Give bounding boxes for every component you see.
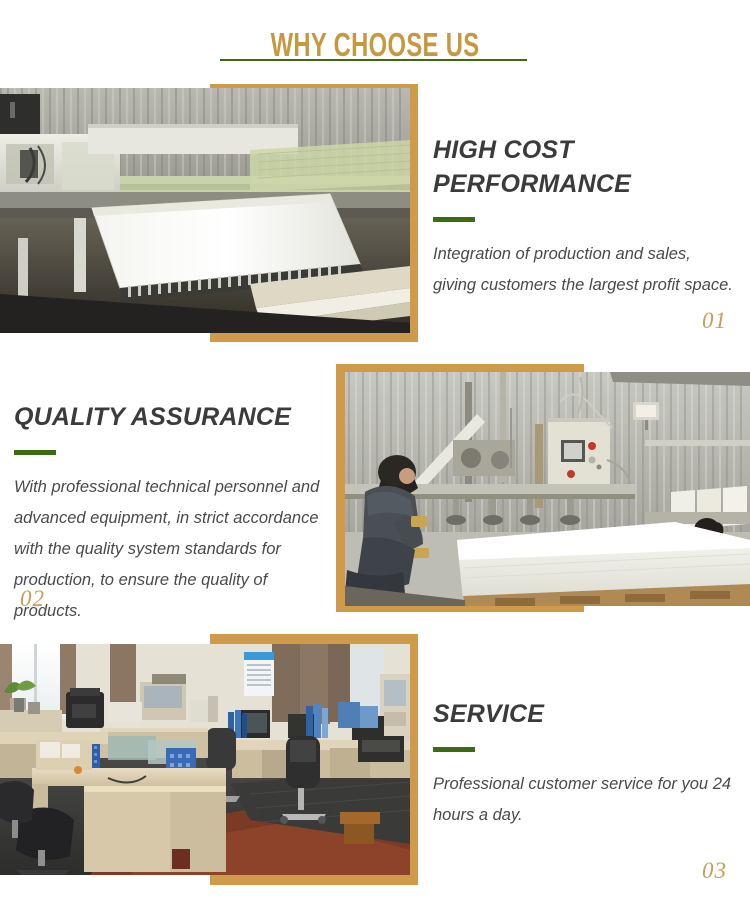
section-1-photo bbox=[0, 88, 410, 333]
section-1-divider bbox=[433, 217, 475, 222]
factory-production-line-image bbox=[0, 88, 410, 333]
section-2-body: With professional technical personnel an… bbox=[14, 472, 326, 627]
page-title: WHY CHOOSE US bbox=[105, 26, 645, 64]
page-header: WHY CHOOSE US bbox=[0, 14, 750, 60]
section-1-text: HIGH COST PERFORMANCE Integration of pro… bbox=[433, 133, 733, 343]
section-1-heading-line2: PERFORMANCE bbox=[433, 167, 733, 201]
section-1-number: 01 bbox=[702, 308, 727, 334]
workshop-workers-image bbox=[345, 372, 750, 606]
section-1-heading-line1: HIGH COST bbox=[433, 133, 733, 167]
section-2-divider bbox=[14, 450, 56, 455]
why-choose-us-page: WHY CHOOSE US bbox=[0, 0, 750, 914]
section-3-number: 03 bbox=[702, 858, 727, 884]
section-3-photo bbox=[0, 644, 410, 875]
section-1-body: Integration of production and sales, giv… bbox=[433, 239, 733, 301]
office-workstations-image bbox=[0, 644, 410, 875]
section-3-text: SERVICE Professional customer service fo… bbox=[433, 697, 733, 857]
section-3-body: Professional customer service for you 24… bbox=[433, 769, 733, 831]
section-2-heading: QUALITY ASSURANCE bbox=[14, 400, 326, 434]
section-1-heading: HIGH COST PERFORMANCE bbox=[433, 133, 733, 201]
section-2-text: QUALITY ASSURANCE With professional tech… bbox=[14, 400, 326, 600]
section-3-divider bbox=[433, 747, 475, 752]
section-3-heading: SERVICE bbox=[433, 697, 733, 731]
section-2-number: 02 bbox=[20, 586, 45, 612]
section-2-photo bbox=[345, 372, 750, 606]
